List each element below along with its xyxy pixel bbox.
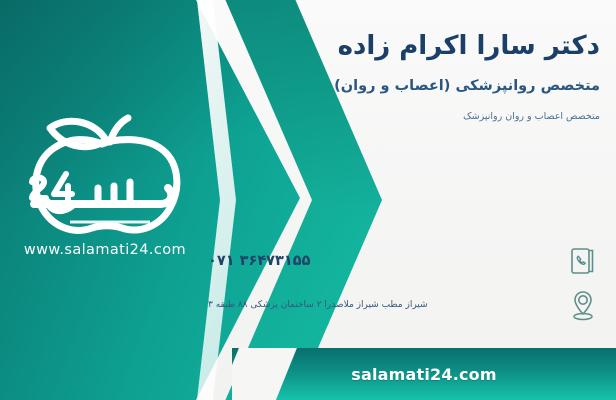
card-content: دکتر سارا اکرام زاده متخصص روانپزشکی (اع… <box>220 30 600 124</box>
brand-logo: www.salamati24.com <box>10 108 200 276</box>
contact-row-phone[interactable]: ۳۶۴۷۳۱۵۵ ۰۷۱ <box>200 244 600 278</box>
business-card: www.salamati24.com دکتر سارا اکرام زاده … <box>0 0 616 400</box>
logo-website-url: www.salamati24.com <box>10 242 200 258</box>
clinic-address: شیراز مطب شیراز ملاصدرا ۲ ساختمان پزشکی … <box>200 299 554 311</box>
footer-website[interactable]: salamati24.com <box>351 365 497 384</box>
doctor-specialty-subtitle: متخصص اعصاب و روان روانپزشک <box>220 111 600 123</box>
phonebook-icon <box>566 244 600 278</box>
map-pin-icon <box>566 288 600 322</box>
contact-row-address[interactable]: شیراز مطب شیراز ملاصدرا ۲ ساختمان پزشکی … <box>200 288 600 322</box>
contact-list: ۳۶۴۷۳۱۵۵ ۰۷۱ شیراز مطب شیراز ملاصدرا ۲ س… <box>200 244 600 332</box>
doctor-specialty: متخصص روانپزشکی (اعصاب و روان) <box>220 77 600 96</box>
phone-number: ۳۶۴۷۳۱۵۵ ۰۷۱ <box>200 253 554 269</box>
footer-bar: salamati24.com <box>232 348 616 400</box>
doctor-name: دکتر سارا اکرام زاده <box>220 30 600 63</box>
apple-logo-icon <box>10 108 200 244</box>
footer-bar-slash <box>232 348 299 400</box>
